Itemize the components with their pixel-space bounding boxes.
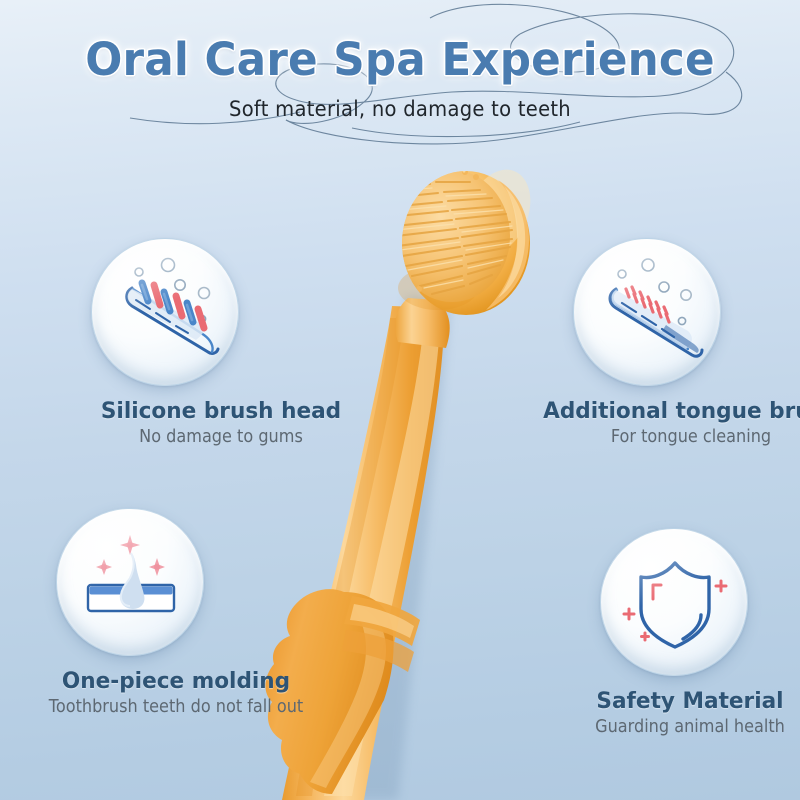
feature-one-piece-molding: One-piece molding Toothbrush teeth do no… xyxy=(56,508,316,717)
shield-icon xyxy=(601,529,748,676)
feature-additional-tongue-brush: Additional tongue brush For tongue clean… xyxy=(573,238,800,447)
feature-subtitle: Guarding animal health xyxy=(524,717,800,737)
one-piece-bristle-icon xyxy=(57,509,204,656)
feature-title: Safety Material xyxy=(517,688,800,714)
feature-title: One-piece molding xyxy=(3,668,349,694)
feature-title: Silicone brush head xyxy=(58,398,384,424)
feature-subtitle: No damage to gums xyxy=(65,427,378,447)
tongue-brush-icon xyxy=(574,239,721,386)
product-infographic: Oral Care Spa Experience Soft material, … xyxy=(0,0,800,800)
page-subtitle: Soft material, no damage to teeth xyxy=(28,97,772,121)
feature-icon-circle-tongue xyxy=(573,238,721,386)
header: Oral Care Spa Experience Soft material, … xyxy=(0,36,800,121)
feature-silicone-brush-head: Silicone brush head No damage to gums xyxy=(91,238,351,447)
feature-icon-circle-molding xyxy=(56,508,204,656)
feature-subtitle: Toothbrush teeth do not fall out xyxy=(10,697,341,717)
feature-icon-circle-safety xyxy=(600,528,748,676)
feature-title: Additional tongue brush xyxy=(499,398,800,424)
feature-subtitle: For tongue cleaning xyxy=(507,427,800,447)
feature-safety-material: Safety Material Guarding animal health xyxy=(600,528,800,737)
toothbrush-bristles-icon xyxy=(92,239,239,386)
feature-icon-circle-silicone xyxy=(91,238,239,386)
page-title: Oral Care Spa Experience xyxy=(12,36,788,83)
